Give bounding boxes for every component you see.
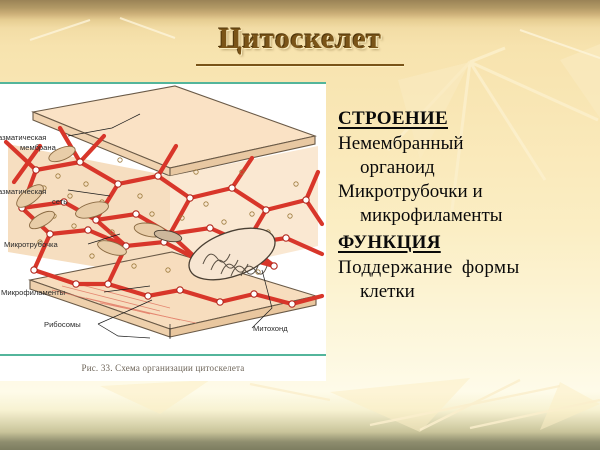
heading-structure: СТРОЕНИЕ [338,108,596,130]
title-underline [196,64,404,66]
page-title: Цитоскелет [0,22,600,56]
figure-caption: Рис. 33. Схема организации цитоскелета [0,363,326,373]
structure-line-2: органоид [338,156,596,180]
label-microfilaments: Микрофиламенты [1,288,65,297]
figure-panel: азматическая мембрана азматическая сеть … [0,82,326,381]
content-text-column: СТРОЕНИЕ Немембранный органоид Микротруб… [338,108,596,304]
function-line-2: клетки [338,280,596,304]
label-membrane-line2: мембрана [20,143,57,152]
label-mitochondria: Митохонд [253,324,288,333]
label-er-line1: азматическая [0,187,46,196]
label-microtubule: Микротрубочка [4,240,59,249]
function-line-1: Поддержание формы [338,256,596,280]
structure-line-4: микрофиламенты [338,204,596,228]
cytoskeleton-diagram: азматическая мембрана азматическая сеть … [0,84,326,354]
structure-line-1: Немембранный [338,132,596,156]
label-ribosomes: Рибосомы [44,320,81,329]
label-membrane-line1: азматическая [0,133,46,142]
structure-line-3: Микротрубочки и [338,180,596,204]
panel-rule-bottom [0,354,326,356]
heading-function: ФУНКЦИЯ [338,232,596,254]
slide-canvas: Цитоскелет [0,0,600,450]
label-er-line2: сеть [52,197,67,206]
